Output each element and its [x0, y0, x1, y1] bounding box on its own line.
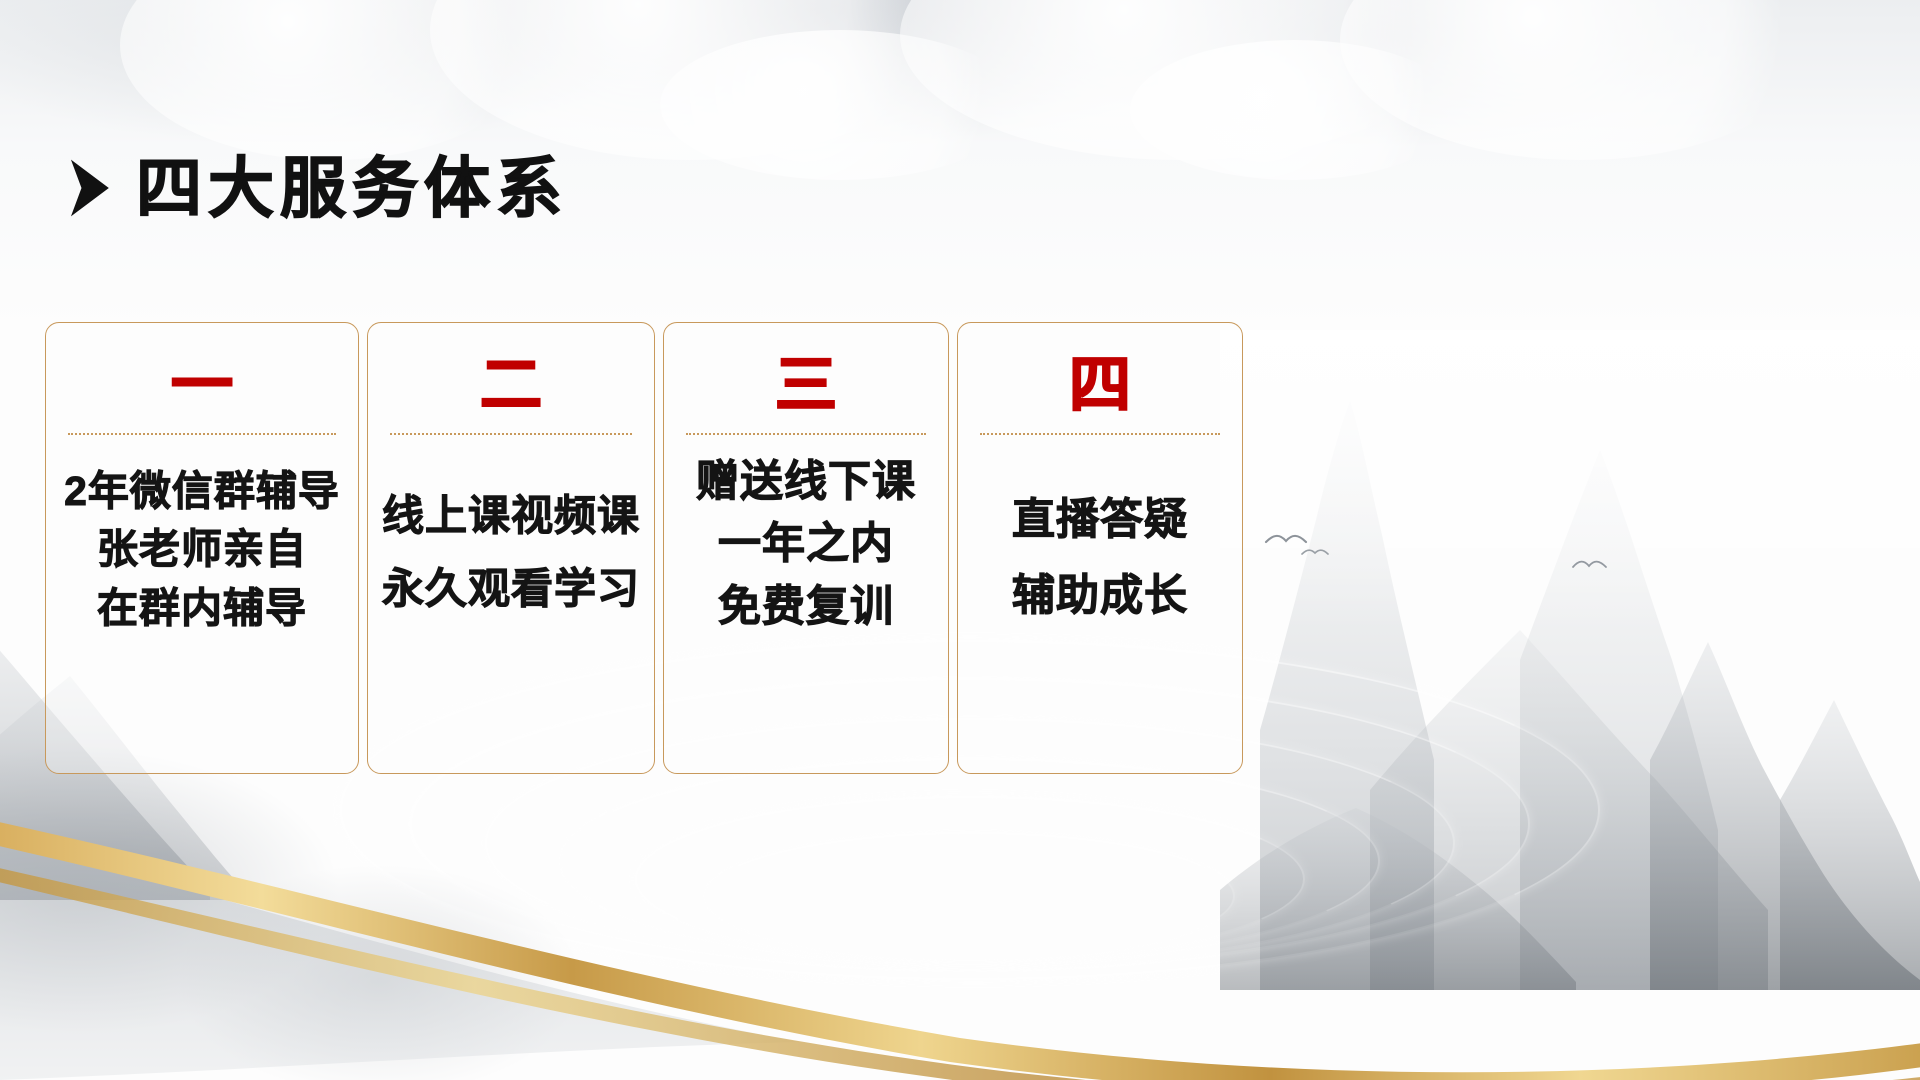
service-card-2[interactable]: 二 线上课视频课 永久观看学习 [367, 322, 655, 774]
card-body-3: 赠送线下课 一年之内 免费复训 [664, 459, 948, 630]
service-card-4[interactable]: 四 直播答疑 辅助成长 [957, 322, 1243, 774]
card-divider-3 [686, 433, 926, 435]
flying-birds-icon [1262, 528, 1332, 562]
service-card-1[interactable]: 一 2年微信群辅导 张老师亲自 在群内辅导 [45, 322, 359, 774]
card-text-line: 免费复训 [718, 584, 894, 630]
card-text-line: 线上课视频课 [382, 493, 640, 538]
arrow-right-triangle-icon [66, 157, 112, 219]
card-divider-1 [68, 433, 336, 435]
service-card-3[interactable]: 三 赠送线下课 一年之内 免费复训 [663, 322, 949, 774]
card-body-1: 2年微信群辅导 张老师亲自 在群内辅导 [46, 469, 358, 630]
card-text-line: 一年之内 [718, 521, 894, 567]
slide-title-row: 四大服务体系 [66, 155, 568, 221]
card-numeral-2: 二 [480, 343, 542, 427]
card-text-line: 辅助成长 [1012, 573, 1188, 619]
card-text-line: 2年微信群辅导 [64, 469, 340, 513]
cloud-puff-5 [660, 30, 1020, 180]
card-text-line: 直播答疑 [1012, 497, 1188, 543]
card-text-line: 永久观看学习 [382, 566, 640, 611]
card-numeral-4: 四 [1069, 343, 1131, 427]
card-text-line: 张老师亲自 [97, 527, 307, 571]
card-body-2: 线上课视频课 永久观看学习 [368, 493, 654, 612]
service-cards-row: 一 2年微信群辅导 张老师亲自 在群内辅导 二 线上课视频课 永久观看学习 三 … [45, 322, 1243, 774]
card-body-4: 直播答疑 辅助成长 [958, 497, 1242, 620]
card-numeral-1: 一 [171, 343, 233, 427]
gold-glitter-sweep [0, 780, 1920, 1080]
card-divider-2 [390, 433, 632, 435]
cloud-puff-6 [1130, 40, 1460, 180]
page-title: 四大服务体系 [136, 155, 568, 221]
card-text-line: 赠送线下课 [696, 459, 916, 505]
slide-canvas: 四大服务体系 一 2年微信群辅导 张老师亲自 在群内辅导 二 线上课视频课 永久… [0, 0, 1920, 1080]
card-divider-4 [980, 433, 1220, 435]
card-numeral-3: 三 [775, 343, 837, 427]
card-text-line: 在群内辅导 [97, 586, 307, 630]
flying-bird-single-icon [1570, 556, 1610, 576]
